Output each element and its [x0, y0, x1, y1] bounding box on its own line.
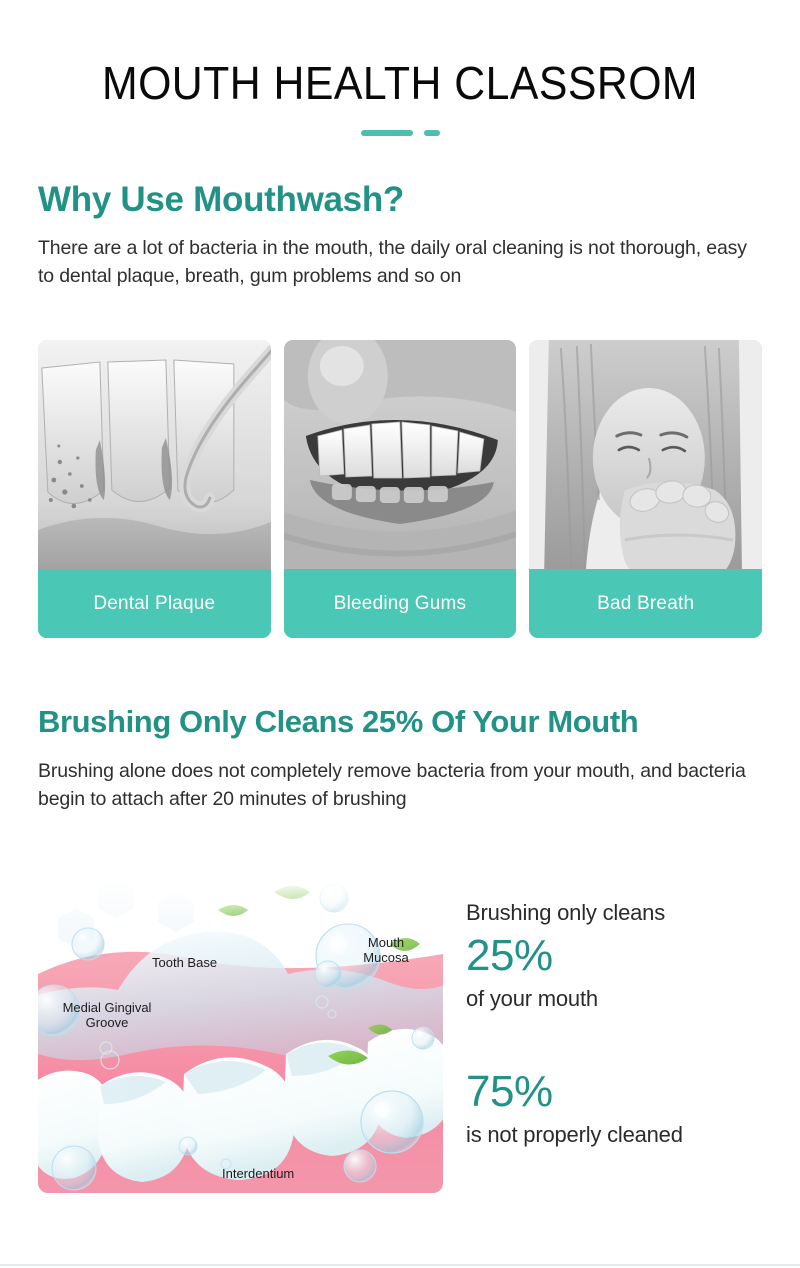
divider-bar-long [361, 130, 413, 136]
card-bleeding-gums[interactable]: Bleeding Gums [284, 340, 517, 638]
card-dental-plaque[interactable]: Dental Plaque [38, 340, 271, 638]
stat-clean-percent: 25% [466, 928, 786, 984]
page-title: MOUTH HEALTH CLASSROM [28, 56, 772, 110]
stat-uncleaned-subtext: is not properly cleaned [466, 1120, 786, 1150]
section-heading-brushing-only-cleans: Brushing Only Cleans 25% Of Your Mouth [38, 704, 638, 740]
card-bad-breath[interactable]: Bad Breath [529, 340, 762, 638]
stat-uncleaned-percent: 75% [466, 1064, 786, 1120]
footer-divider-rule [0, 1264, 800, 1266]
stat-lead-text: Brushing only cleans [466, 898, 786, 928]
section-heading-why-use-mouthwash: Why Use Mouthwash? [38, 180, 404, 220]
card-caption-dental-plaque: Dental Plaque [38, 569, 271, 638]
card-caption-bad-breath: Bad Breath [529, 569, 762, 638]
section-body-why-use-mouthwash: There are a lot of bacteria in the mouth… [38, 234, 768, 290]
problem-card-list: Dental Plaque [38, 340, 762, 638]
stat-clean-subtext: of your mouth [466, 984, 786, 1014]
brushing-stats: Brushing only cleans 25% of your mouth 7… [466, 898, 786, 1150]
divider-bar-short [424, 130, 440, 136]
mouth-anatomy-illustration [38, 878, 443, 1193]
title-divider [0, 130, 800, 136]
stats-spacer [466, 1014, 786, 1064]
infographic-page: MOUTH HEALTH CLASSROM Why Use Mouthwash?… [0, 0, 800, 1268]
card-caption-bleeding-gums: Bleeding Gums [284, 569, 517, 638]
section-body-brushing-only-cleans: Brushing alone does not completely remov… [38, 757, 778, 813]
